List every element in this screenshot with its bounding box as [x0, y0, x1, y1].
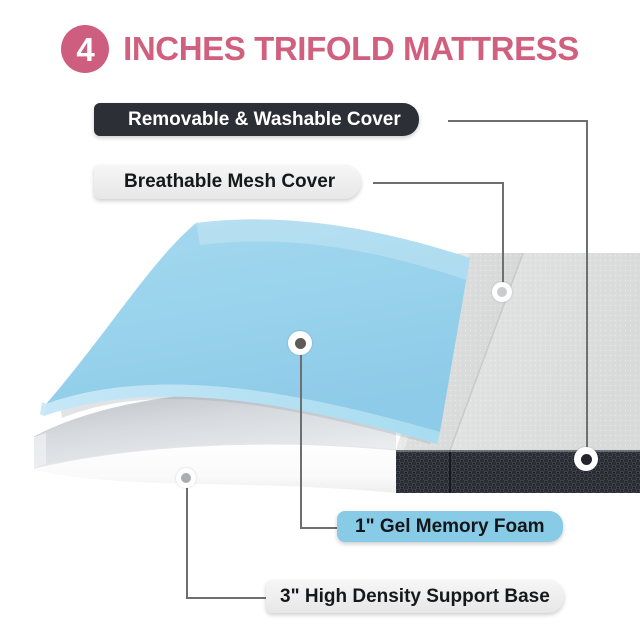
- callout-label-text: Breathable Mesh Cover: [124, 171, 335, 193]
- leader-line-gel-v: [300, 352, 302, 527]
- marker-core: [181, 473, 191, 483]
- marker-removable-washable-cover[interactable]: [574, 447, 598, 471]
- callout-breathable-mesh-cover[interactable]: Breathable Mesh Cover: [94, 165, 361, 199]
- callout-label-text: Removable & Washable Cover: [128, 109, 401, 131]
- callout-label-text: 1" Gel Memory Foam: [355, 516, 545, 538]
- callout-removable-washable-cover[interactable]: Removable & Washable Cover: [94, 103, 419, 136]
- infographic-canvas: 4 INCHES TRIFOLD MATTRESS: [0, 0, 640, 640]
- mesh-side-panel: [396, 450, 640, 493]
- mattress-illustration: [0, 0, 640, 640]
- marker-breathable-mesh-cover[interactable]: [492, 282, 512, 302]
- marker-core: [497, 287, 507, 297]
- marker-high-density-base[interactable]: [176, 468, 196, 488]
- marker-gel-memory-foam[interactable]: [288, 331, 312, 355]
- callout-high-density-support-base[interactable]: 3" High Density Support Base: [266, 580, 564, 613]
- callout-label-text: 3" High Density Support Base: [280, 586, 550, 608]
- marker-core: [581, 454, 592, 465]
- callout-gel-memory-foam[interactable]: 1" Gel Memory Foam: [337, 511, 563, 542]
- leader-line-removable-v: [586, 120, 588, 450]
- leader-line-base-h: [186, 597, 270, 599]
- marker-core: [295, 338, 306, 349]
- leader-line-mesh-h: [373, 182, 504, 184]
- leader-line-base-v: [186, 487, 188, 597]
- leader-line-removable-h: [448, 120, 588, 122]
- leader-line-mesh-v: [502, 182, 504, 284]
